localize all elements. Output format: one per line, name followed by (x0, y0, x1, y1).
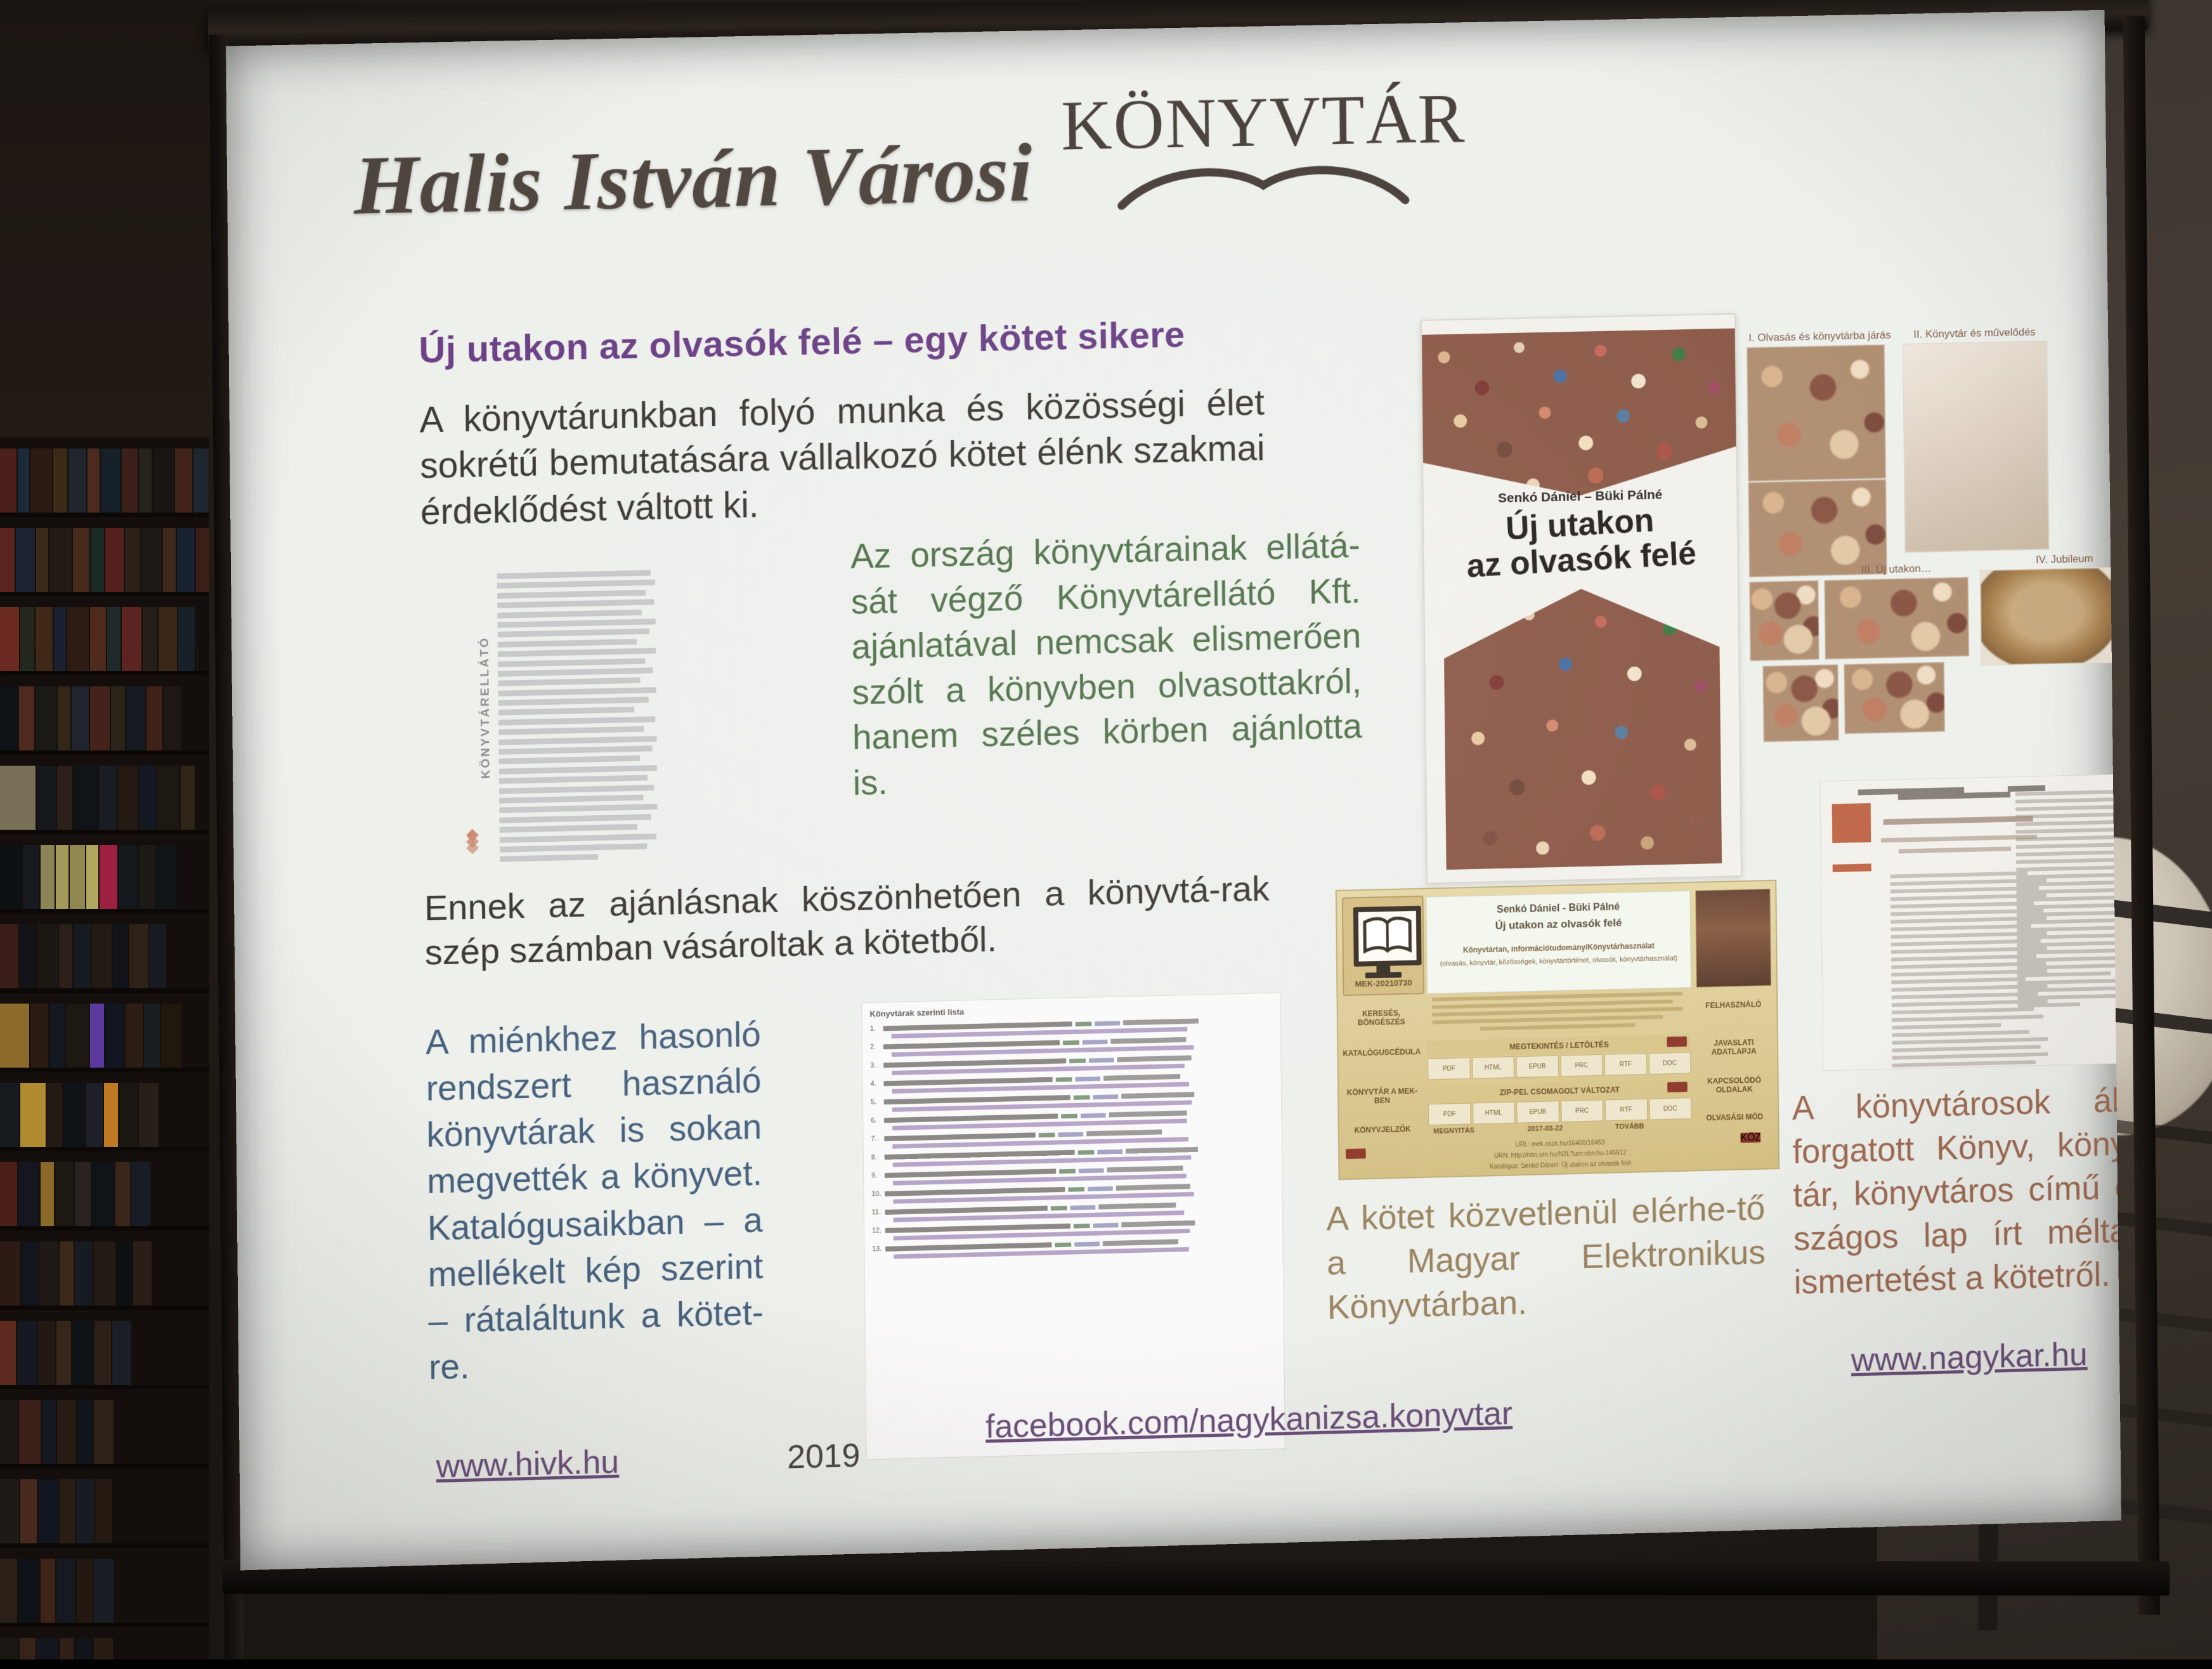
library-logo: KÖNYVTÁR (1061, 83, 1467, 214)
shelf-row (0, 1072, 209, 1151)
article-logo (1832, 803, 1871, 843)
mek-format-cell[interactable]: PRC (1561, 1100, 1603, 1122)
mek-badge-3: KÖZ (1740, 1132, 1760, 1143)
shelf-row (0, 1231, 209, 1310)
mek-nav-library[interactable]: KÖNYVTÁR A MEK-BEN (1341, 1087, 1423, 1106)
mek-nav-suggestion[interactable]: JAVASLATI ADATLAPJA (1693, 1037, 1775, 1057)
mek-cover-thumbnail (1695, 889, 1771, 988)
mek-foot-date: 2017-03-22 (1528, 1125, 1563, 1133)
mek-foot-next[interactable]: TOVÁBB (1615, 1123, 1644, 1131)
link-nagykar[interactable]: www.nagykar.hu (1851, 1335, 2088, 1379)
shelf-row (0, 1548, 209, 1627)
shelf-row (0, 1469, 209, 1548)
journal-article-scan (1819, 772, 2121, 1071)
shelf-row (0, 596, 209, 676)
screen-frame-right (2123, 16, 2160, 1615)
paragraph-purchases: Ennek az ajánlásnak köszönhetően a könyv… (424, 867, 1270, 975)
mek-badge-1 (1667, 1037, 1687, 1047)
mek-format-cell[interactable]: EPUB (1516, 1101, 1559, 1123)
mek-page-screenshot: MEK-20210730 Senkó Dániel - Büki Pálné Ú… (1336, 880, 1779, 1181)
shelf-row (0, 517, 209, 596)
kello-logo-strip: KÖNYVTÁRELLÁTÓ (453, 586, 490, 866)
mek-format-row-1: PDF HTML EPUB PRC RTF DOC (1428, 1052, 1691, 1080)
paragraph-kello: Az ország könyvtárainak ellátá-sát végző… (850, 523, 1363, 805)
mek-format-cell[interactable]: PDF (1428, 1057, 1470, 1080)
photo-thumb-8 (1844, 662, 1946, 735)
mek-title: Új utakon az olvasók felé (1427, 915, 1690, 934)
photo-thumb-4 (1749, 580, 1820, 662)
mek-badge-4 (1346, 1148, 1366, 1159)
article-column-right (2015, 789, 2121, 1011)
book-cover-title-line2: az olvasók felé (1466, 535, 1697, 585)
poster-title-row: Halis István Városi KÖNYVTÁR (353, 82, 1963, 227)
mek-format-cell[interactable]: HTML (1473, 1102, 1515, 1124)
photo-thumb-1 (1747, 344, 1887, 481)
kello-diamond-icon (458, 827, 487, 857)
mek-title-panel: Senkó Dániel - Büki Pálné Új utakon az o… (1426, 891, 1691, 994)
mek-nav-search[interactable]: KERESÉS, BÖNGÉSZÉS (1341, 1008, 1422, 1028)
kello-fineprint-text (497, 570, 658, 871)
page-title: Halis István Városi (353, 131, 1033, 228)
projection-screen: Halis István Városi KÖNYVTÁR Új utakon a… (195, 0, 2202, 1669)
poster-subtitle: Új utakon az olvasók felé – egy kötet si… (419, 313, 1185, 372)
mek-description-text (1432, 992, 1683, 1035)
mek-authors: Senkó Dániel - Büki Pálné (1427, 900, 1690, 918)
photo-thumb-7 (1762, 664, 1840, 743)
mek-format-cell[interactable]: HTML (1472, 1056, 1514, 1078)
catalog-results-screenshot: Könyvtárak szerinti lista 1. 2. 3. (861, 992, 1285, 1460)
poster-year: 2019 (787, 1437, 861, 1477)
bookshelf (0, 438, 209, 1659)
mek-format-cell[interactable]: RTF (1605, 1099, 1648, 1121)
mek-format-cell[interactable]: PRC (1560, 1054, 1603, 1077)
article-subtitle-rule (1881, 835, 2037, 843)
mek-keywords-sub: (olvasás, könyvtár, közösségek, könyvtár… (1433, 953, 1684, 970)
shelf-row (0, 1151, 209, 1231)
kello-vertical-label: KÖNYVTÁRELLÁTÓ (478, 619, 493, 796)
mek-format-cell[interactable]: DOC (1648, 1052, 1691, 1074)
book-cover-bottom-photo (1443, 586, 1722, 870)
shelf-row (0, 676, 209, 755)
paragraph-catalogs: A miénkhez hasonló rendszert használó kö… (426, 1011, 764, 1391)
photo-caption-4: IV. Jubileum (2036, 553, 2093, 566)
catalog-header: Könyvtárak szerinti lista (869, 1000, 1272, 1019)
projected-slide: Halis István Városi KÖNYVTÁR Új utakon a… (226, 10, 2121, 1571)
mek-foot-open[interactable]: MEGNYITÁS (1433, 1127, 1474, 1136)
room-background: Halis István Városi KÖNYVTÁR Új utakon a… (0, 0, 2212, 1659)
mek-nav-related[interactable]: KAPCSOLÓDÓ OLDALAK (1693, 1075, 1775, 1095)
shelf-row (0, 755, 209, 834)
mek-nav-catalog-card[interactable]: KATALÓGUSCÉDULA (1341, 1047, 1422, 1058)
photo-thumb-3 (1903, 341, 2050, 553)
shelf-row (0, 993, 209, 1072)
link-hivk[interactable]: www.hivk.hu (436, 1443, 619, 1486)
screen-bottom-bar (223, 1560, 2170, 1596)
article-title-rule (1883, 816, 2033, 825)
mek-format-cell[interactable]: DOC (1649, 1097, 1691, 1120)
photo-caption-2: II. Könyvtár és művelődés (1913, 326, 2036, 341)
mek-format-cell[interactable]: RTF (1604, 1053, 1647, 1075)
mek-nav-reading-mode[interactable]: OLVASÁSI MÓD (1694, 1112, 1775, 1123)
shelf-row (0, 1627, 209, 1659)
photo-caption-3: III. Új utakon… (1861, 562, 1932, 576)
logo-wordmark: KÖNYVTÁR (1061, 83, 1466, 162)
shelf-row (0, 438, 209, 517)
photo-thumb-5 (1824, 577, 1970, 660)
paragraph-mek: A kötet közvetlenül elérhe-tő a Magyar E… (1326, 1186, 1766, 1330)
shelf-row (0, 834, 209, 913)
mek-screen-glyph (1353, 906, 1422, 967)
article-subtitle-rule-2 (1899, 846, 2011, 853)
dark-room-edge (0, 0, 209, 444)
shelf-row (0, 1389, 209, 1469)
photo-thumb-6 (1980, 567, 2113, 665)
open-book-glyph (1358, 911, 1417, 962)
paragraph-review: A könyvtárosok által forgatott Könyv, kö… (1792, 1078, 2121, 1304)
mek-footer-urls: URL: mek.oszk.hu/16400/16453 URN: http:/… (1429, 1136, 1692, 1174)
open-book-icon (1116, 157, 1412, 213)
article-logo-bar (1833, 863, 1871, 872)
mek-monitor-base (1365, 972, 1402, 978)
photo-caption-1: I. Olvasás és könyvtárba járás (1748, 329, 1890, 344)
photo-thumb-2 (1748, 479, 1887, 578)
photo-collage: I. Olvasás és könyvtárba járás II. Könyv… (1746, 323, 2121, 761)
mek-format-cell[interactable]: EPUB (1516, 1056, 1559, 1078)
mek-keywords-main: Könyvtártan, információtudomány/Könyvtár… (1427, 940, 1690, 955)
shelf-row (0, 913, 209, 993)
mek-format-cell[interactable]: PDF (1428, 1103, 1471, 1125)
mek-nav-user[interactable]: FELHASZNÁLÓ (1693, 1000, 1774, 1011)
paragraph-intro: A könyvtárunkban folyó munka és közösség… (419, 380, 1265, 535)
mek-id-label: MEK-20210730 (1348, 978, 1419, 989)
mek-nav-bookmarks[interactable]: KÖNYVJELZŐK (1342, 1124, 1424, 1135)
book-cover-title: Új utakon az olvasók felé (1422, 498, 1738, 587)
shelf-row (0, 1310, 209, 1389)
book-cover-image: Senkó Dániel – Büki Pálné Új utakon az o… (1421, 313, 1742, 884)
book-cover-top-photo (1422, 329, 1736, 499)
mek-monitor-icon: MEK-20210730 (1342, 896, 1424, 996)
mek-badge-2 (1667, 1082, 1688, 1092)
